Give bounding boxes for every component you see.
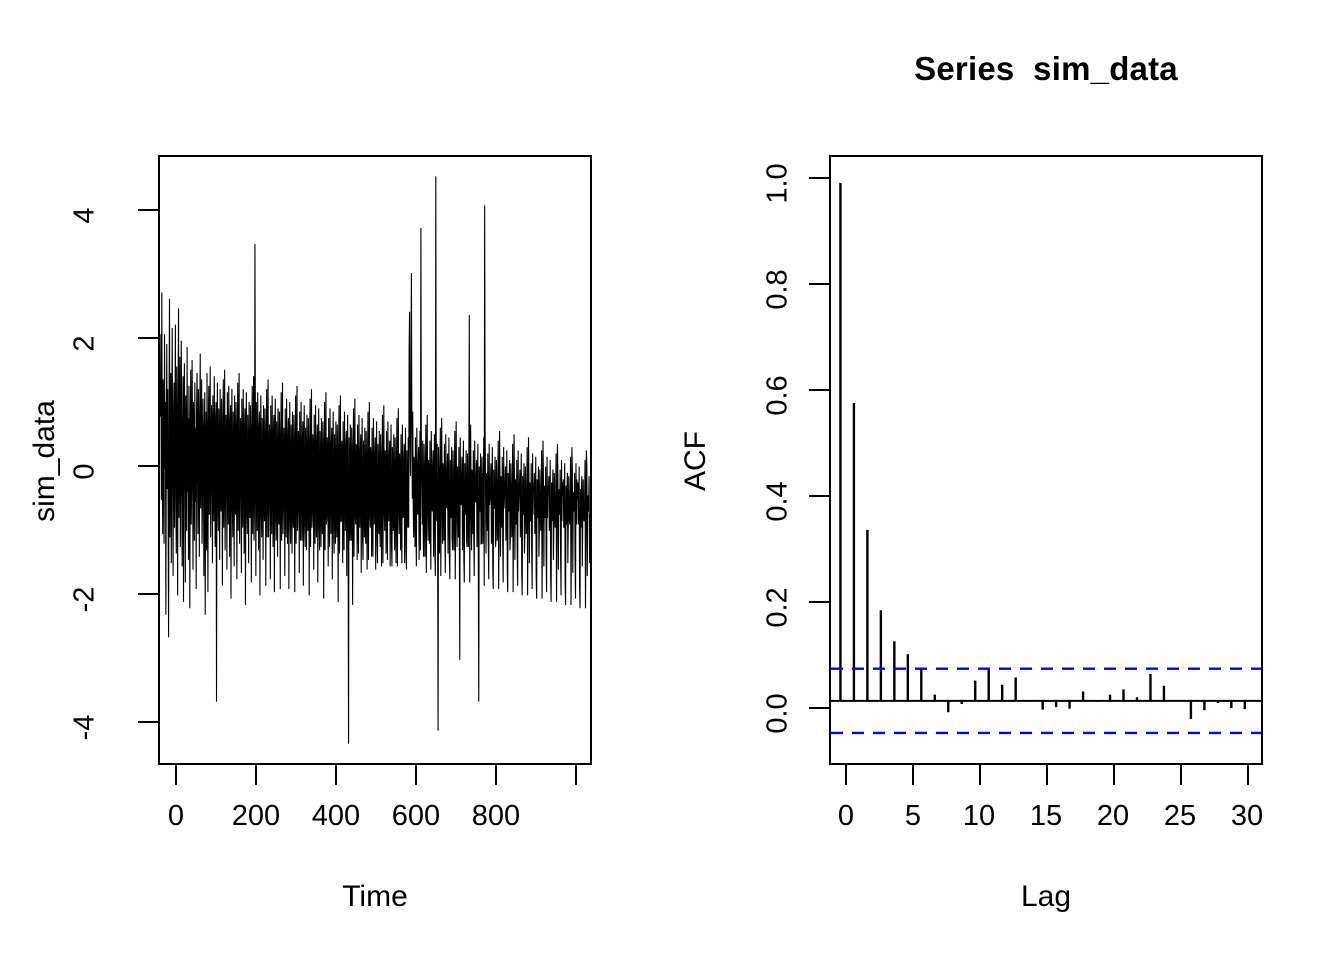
acf-y-tick-1-0: 1.0 <box>762 140 795 228</box>
acf-x-tickmark-15 <box>1046 765 1048 785</box>
acf-y-tick-0-4: 0.4 <box>762 458 795 546</box>
timeseries-y-tickmark-2 <box>138 337 158 339</box>
timeseries-y-tick-2: 2 <box>69 314 102 374</box>
acf-x-tickmark-30 <box>1247 765 1249 785</box>
timeseries-x-tickmark-200 <box>255 765 257 785</box>
acf-panel <box>829 155 1263 765</box>
acf-y-tick-0-0: 0.0 <box>762 670 795 758</box>
timeseries-plot-area <box>160 157 590 763</box>
acf-y-axis-label: ACF <box>679 371 713 551</box>
acf-x-tick-30: 30 <box>1203 800 1291 833</box>
timeseries-y-tick-0: 0 <box>69 442 102 502</box>
timeseries-x-tickmark-400 <box>335 765 337 785</box>
acf-x-tickmark-20 <box>1113 765 1115 785</box>
acf-x-tickmark-25 <box>1180 765 1182 785</box>
acf-x-tickmark-10 <box>979 765 981 785</box>
timeseries-y-axis-label: sim_data <box>28 331 62 591</box>
timeseries-y-tick-minus4: -4 <box>69 689 102 767</box>
acf-y-tick-0-6: 0.6 <box>762 352 795 440</box>
acf-y-tickmark-1-0 <box>809 177 829 179</box>
timeseries-x-tickmark-0 <box>175 765 177 785</box>
acf-y-tickmark-0-6 <box>809 389 829 391</box>
timeseries-x-tickmark-1000 <box>575 765 577 785</box>
acf-x-tickmark-0 <box>845 765 847 785</box>
timeseries-y-tick-4: 4 <box>69 186 102 246</box>
acf-x-tickmark-5 <box>912 765 914 785</box>
acf-y-tick-0-2: 0.2 <box>762 564 795 652</box>
timeseries-x-tickmark-800 <box>495 765 497 785</box>
timeseries-y-tickmark-minus2 <box>138 593 158 595</box>
timeseries-panel <box>158 155 592 765</box>
acf-title: Series sim_data <box>816 50 1276 88</box>
timeseries-x-axis-label: Time <box>245 880 505 914</box>
timeseries-y-tick-minus2: -2 <box>69 561 102 639</box>
timeseries-y-tickmark-minus4 <box>138 721 158 723</box>
acf-bars <box>840 183 1258 719</box>
acf-y-tickmark-0-0 <box>809 707 829 709</box>
acf-y-tick-0-8: 0.8 <box>762 246 795 334</box>
acf-y-tickmark-0-2 <box>809 601 829 603</box>
timeseries-x-tick-800: 800 <box>441 800 551 833</box>
timeseries-x-tickmark-600 <box>415 765 417 785</box>
acf-x-axis-label: Lag <box>916 880 1176 914</box>
acf-y-tickmark-0-4 <box>809 495 829 497</box>
timeseries-y-tickmark-4 <box>138 209 158 211</box>
r-plot-figure: sim_data 4 2 0 -2 -4 0 200 400 600 800 T… <box>0 0 1344 960</box>
timeseries-y-tickmark-0 <box>138 465 158 467</box>
acf-y-tickmark-0-8 <box>809 283 829 285</box>
acf-plot-area <box>831 157 1261 763</box>
